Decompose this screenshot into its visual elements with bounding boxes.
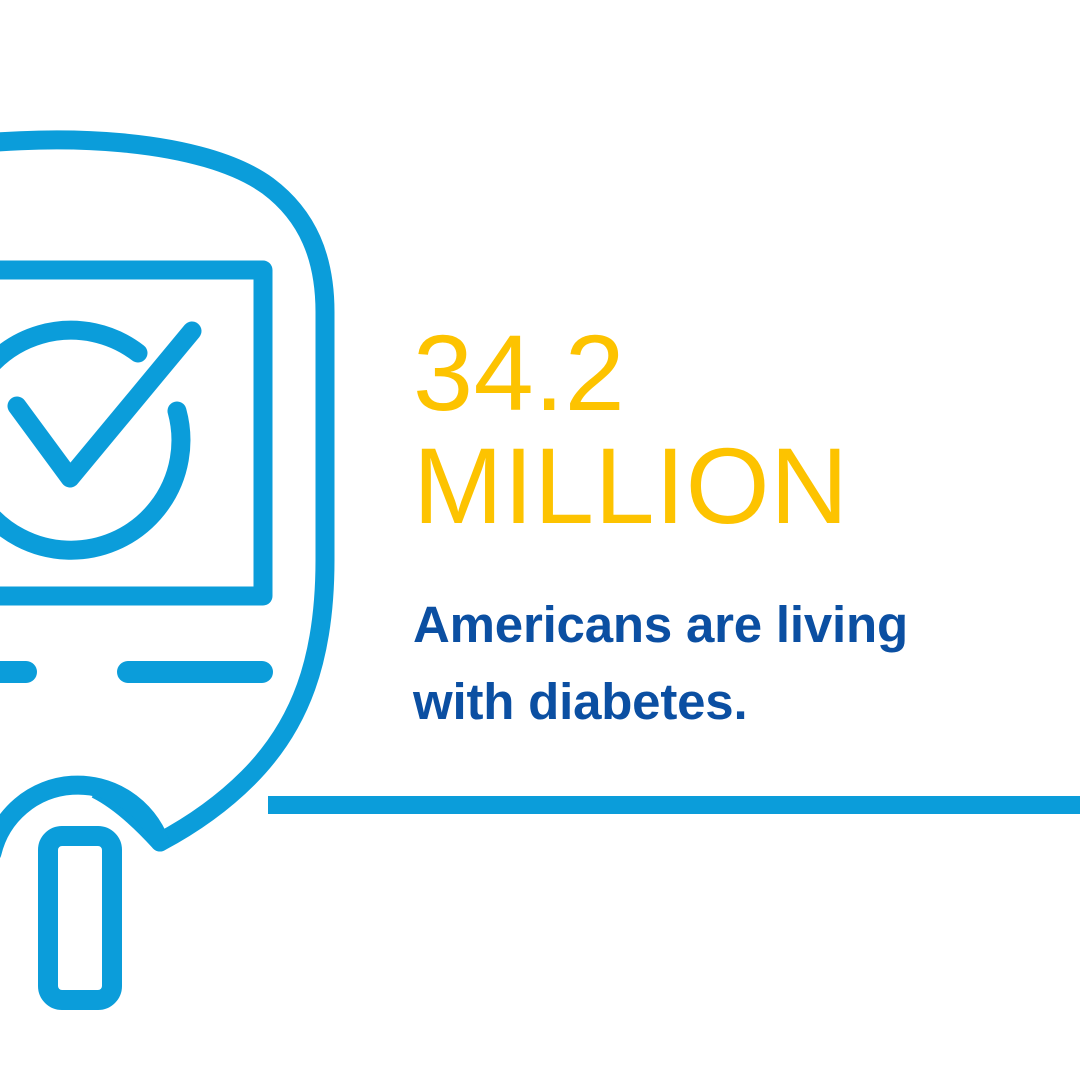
test-strip [48, 836, 112, 1000]
caption-line-1: Americans are living [413, 586, 1013, 663]
statistic-text-block: 34.2 MILLION Americans are living with d… [413, 316, 1013, 740]
meter-body-outline [0, 140, 325, 842]
caption-text: Americans are living with diabetes. [413, 586, 1013, 740]
lancet-arch [0, 785, 160, 853]
meter-screen-frame [0, 270, 263, 596]
caption-line-2: with diabetes. [413, 663, 1013, 740]
check-circle-icon [0, 330, 192, 550]
statistic-unit: MILLION [413, 429, 1013, 542]
horizontal-divider-rule [268, 796, 1080, 814]
statistic-value: 34.2 [413, 316, 1013, 429]
infographic-canvas: 34.2 MILLION Americans are living with d… [0, 0, 1080, 1080]
